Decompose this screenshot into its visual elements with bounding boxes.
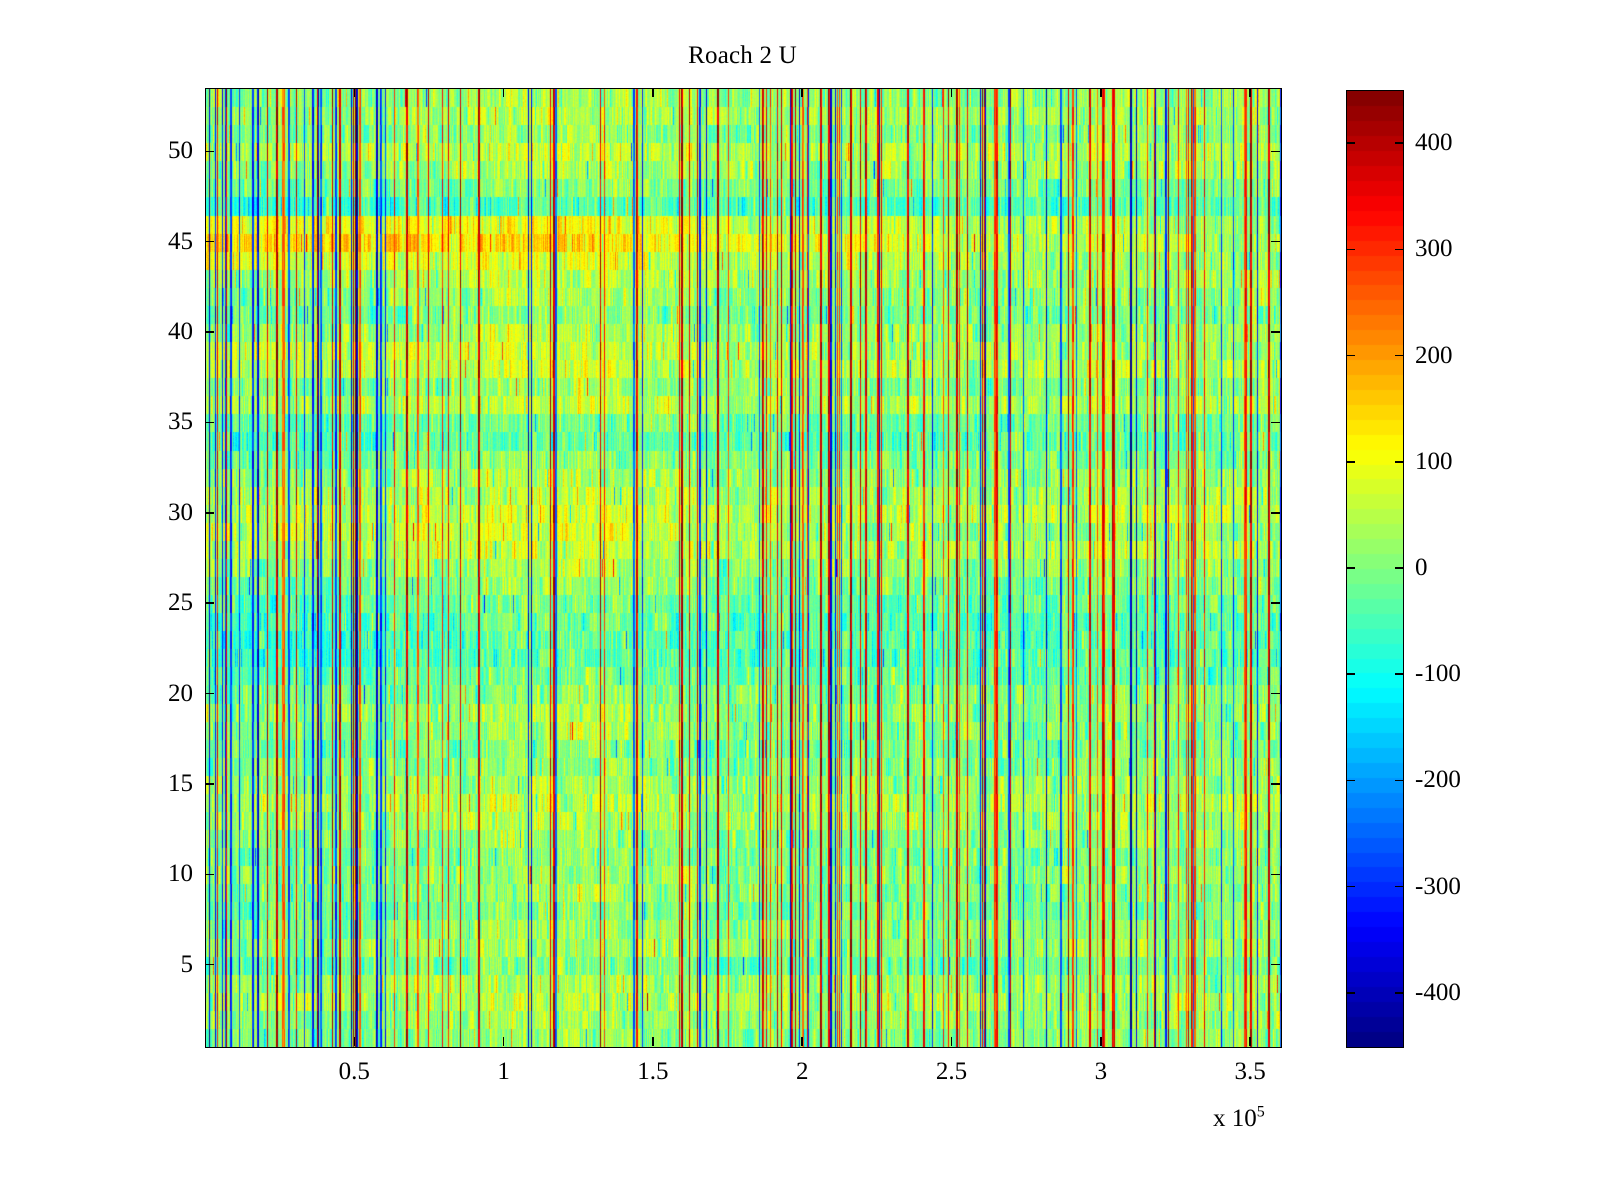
x-axis-tick-top [801, 88, 803, 97]
y-axis-tick [205, 693, 214, 695]
colorbar-tick-label: -200 [1415, 766, 1461, 794]
y-axis-tick-right [1271, 693, 1280, 695]
x-axis-tick-label: 3.5 [1235, 1058, 1266, 1086]
x-axis-tick-label: 1 [497, 1058, 510, 1086]
y-axis-tick-label: 5 [125, 951, 193, 979]
x-axis-tick-top [354, 88, 356, 97]
colorbar-tick-label: 300 [1415, 235, 1453, 263]
exponent-power: 5 [1257, 1104, 1265, 1121]
colorbar-tick-label: -100 [1415, 660, 1461, 688]
y-axis-tick-label: 15 [125, 770, 193, 798]
heatmap-image [206, 89, 1281, 1047]
colorbar-tick-right [1395, 780, 1403, 782]
x-axis-tick [354, 1037, 356, 1046]
colorbar-tick-label: 400 [1415, 129, 1453, 157]
colorbar-tick-label: -400 [1415, 979, 1461, 1007]
y-axis-tick-right [1271, 512, 1280, 514]
y-axis-tick-right [1271, 331, 1280, 333]
x-axis-tick-top [951, 88, 953, 97]
y-axis-tick [205, 874, 214, 876]
colorbar-tick-right [1395, 355, 1403, 357]
y-axis-tick [205, 512, 214, 514]
colorbar-tick [1347, 780, 1355, 782]
y-axis-tick-label: 10 [125, 860, 193, 888]
colorbar-tick-right [1395, 142, 1403, 144]
y-axis-tick-label: 45 [125, 228, 193, 256]
x-axis-tick-top [503, 88, 505, 97]
y-axis-tick [205, 331, 214, 333]
x-axis-tick-label: 1.5 [637, 1058, 668, 1086]
colorbar-tick [1347, 886, 1355, 888]
y-axis-tick-right [1271, 602, 1280, 604]
y-axis-tick-right [1271, 783, 1280, 785]
y-axis-tick-right [1271, 964, 1280, 966]
colorbar-gradient [1347, 91, 1403, 1047]
y-axis-tick [205, 241, 214, 243]
y-axis-tick [205, 602, 214, 604]
x-axis-exponent-label: x 105 [1213, 1105, 1265, 1133]
y-axis-tick-right [1271, 422, 1280, 424]
colorbar-tick-label: 0 [1415, 554, 1428, 582]
colorbar-tick-label: 200 [1415, 342, 1453, 370]
colorbar-tick [1347, 461, 1355, 463]
colorbar-tick [1347, 249, 1355, 251]
y-axis-tick-right [1271, 241, 1280, 243]
colorbar-tick-right [1395, 886, 1403, 888]
colorbar [1346, 90, 1404, 1048]
y-axis-tick [205, 422, 214, 424]
colorbar-tick-right [1395, 461, 1403, 463]
colorbar-tick-right [1395, 249, 1403, 251]
colorbar-tick [1347, 992, 1355, 994]
x-axis-tick-label: 2.5 [936, 1058, 967, 1086]
y-axis-tick [205, 783, 214, 785]
y-axis-tick-label: 35 [125, 408, 193, 436]
x-axis-tick [1249, 1037, 1251, 1046]
x-axis-tick-top [1100, 88, 1102, 97]
colorbar-tick-right [1395, 567, 1403, 569]
x-axis-tick [503, 1037, 505, 1046]
exponent-mantissa: x 10 [1213, 1105, 1257, 1132]
colorbar-tick-label: -300 [1415, 873, 1461, 901]
y-axis-tick-label: 25 [125, 589, 193, 617]
colorbar-tick [1347, 355, 1355, 357]
y-axis-tick-label: 30 [125, 499, 193, 527]
x-axis-tick [1100, 1037, 1102, 1046]
y-axis-tick-label: 50 [125, 137, 193, 165]
x-axis-tick [652, 1037, 654, 1046]
x-axis-tick [801, 1037, 803, 1046]
colorbar-tick [1347, 567, 1355, 569]
x-axis-tick [951, 1037, 953, 1046]
x-axis-tick-label: 0.5 [339, 1058, 370, 1086]
x-axis-tick-label: 2 [796, 1058, 809, 1086]
x-axis-tick-top [652, 88, 654, 97]
colorbar-tick-right [1395, 673, 1403, 675]
page-title: Roach 2 U [0, 42, 1485, 70]
y-axis-tick-label: 40 [125, 318, 193, 346]
colorbar-tick [1347, 142, 1355, 144]
y-axis-tick-right [1271, 151, 1280, 153]
y-axis-tick-label: 20 [125, 680, 193, 708]
colorbar-tick [1347, 673, 1355, 675]
matlab-figure-window: Roach 2 U 0.511.522.533.5510152025303540… [0, 0, 1600, 1200]
x-axis-tick-top [1249, 88, 1251, 97]
y-axis-tick-right [1271, 874, 1280, 876]
y-axis-tick [205, 964, 214, 966]
colorbar-tick-right [1395, 992, 1403, 994]
y-axis-tick [205, 151, 214, 153]
x-axis-tick-label: 3 [1095, 1058, 1108, 1086]
colorbar-tick-label: 100 [1415, 448, 1453, 476]
heatmap-axes [205, 88, 1282, 1048]
